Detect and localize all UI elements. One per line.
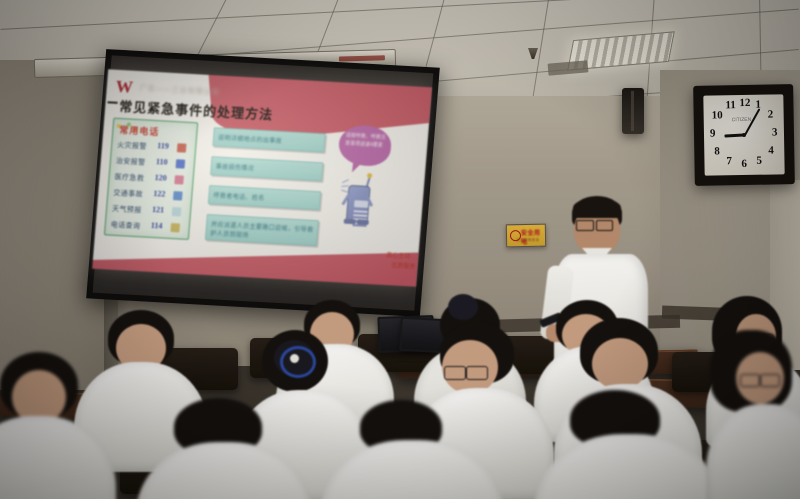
- option-b: 事故损伤情况: [210, 156, 323, 181]
- clock-numeral: 10: [712, 109, 723, 121]
- option-c-text: 呼救者电话、姓名: [213, 190, 265, 202]
- safety-sign-line2: 注意用电安全: [516, 238, 539, 243]
- head: [592, 338, 648, 390]
- clock-numeral: 2: [768, 108, 774, 120]
- phone-number: 121: [152, 205, 165, 215]
- glasses-icon: [760, 374, 780, 387]
- slide-signature-1: 真心主动: [386, 250, 411, 260]
- speech-bubble-text: 请按呼救、呼救注意事项适速4要素: [345, 132, 386, 150]
- wall-clock: 12 1 2 3 4 5 6 7 8 9 10 11 CITIZEN: [693, 84, 795, 186]
- fire-icon: [177, 143, 187, 152]
- speech-bubble: 请按呼救、呼救注意事项适速4要素: [337, 124, 392, 167]
- option-d-text: 并应派遣人员主要路口迎候，引导救护人员到现场: [210, 219, 317, 243]
- common-phone-numbers-box: 常用电话 火灾报警 119 治安报警 110 医疗急救 120 交通事故 122: [104, 118, 198, 240]
- phone-label: 天气预报: [112, 204, 142, 216]
- phone-label: 医疗急救: [114, 172, 144, 184]
- phone-row: 天气预报 121: [112, 203, 187, 219]
- cartoon-telephone-robot-icon: [342, 175, 377, 238]
- glasses-icon: [740, 374, 760, 387]
- phone-number: 110: [156, 157, 168, 167]
- clock-numeral: 5: [756, 155, 762, 167]
- clock-numeral: 9: [710, 127, 716, 139]
- ambulance-icon: [174, 175, 184, 184]
- phone-label: 电话查询: [110, 220, 140, 232]
- clock-face: 12 1 2 3 4 5 6 7 8 9 10 11 CITIZEN: [703, 94, 784, 175]
- blue-hair-clip-icon: [280, 346, 316, 378]
- presenter-glasses-icon: [576, 220, 594, 231]
- company-logo-icon: W: [115, 77, 132, 98]
- phone-row: 治安报警 110: [115, 155, 190, 171]
- clock-numeral: 4: [768, 144, 774, 156]
- presenter-glasses-icon: [596, 220, 613, 231]
- phone-label: 治安报警: [116, 156, 146, 168]
- option-b-text: 事故损伤情况: [215, 161, 254, 172]
- clock-numeral: 6: [741, 158, 747, 170]
- wall-speaker: [622, 88, 644, 134]
- traffic-icon: [173, 191, 183, 200]
- phone-row: 交通事故 122: [113, 187, 188, 203]
- glasses-icon: [466, 366, 488, 380]
- option-d: 并应派遣人员主要路口迎候，引导救护人员到现场: [205, 214, 319, 246]
- option-c: 呼救者电话、姓名: [208, 185, 321, 210]
- clock-numeral: 11: [725, 99, 736, 111]
- phone-number: 114: [150, 221, 162, 231]
- meeting-room-photo: W 广东——工业有限公司 常见紧急事件的处理方法 常用电话 火灾报警 119 治…: [0, 0, 800, 499]
- phone-number: 122: [153, 189, 166, 199]
- clock-numeral: 8: [714, 145, 720, 157]
- clock-brand-label: CITIZEN: [732, 117, 752, 123]
- hair-clip-bead: [290, 354, 299, 363]
- company-name-text: 广东——工业有限公司: [139, 83, 220, 97]
- slide-signature-2: 优质服务: [391, 260, 416, 270]
- phone-number: 119: [157, 141, 169, 151]
- clock-numeral: 12: [739, 97, 750, 109]
- phone-label: 交通事故: [113, 188, 143, 200]
- phone-box-heading: 常用电话: [119, 123, 160, 138]
- directory-icon: [170, 223, 180, 232]
- police-icon: [176, 159, 186, 168]
- clock-center-pin: [742, 133, 746, 137]
- phone-number: 120: [154, 173, 167, 183]
- option-a-text: 说明详细地点的出事故: [218, 133, 283, 146]
- clock-numeral: 7: [726, 155, 732, 167]
- hair-bun-knot: [448, 294, 478, 320]
- projected-slide: W 广东——工业有限公司 常见紧急事件的处理方法 常用电话 火灾报警 119 治…: [92, 69, 432, 286]
- title-dash: [108, 101, 118, 103]
- presenter-hair-top: [573, 198, 621, 218]
- phone-row: 火灾报警 119: [117, 139, 192, 155]
- housing-brand-label: [339, 55, 385, 61]
- weather-icon: [172, 207, 182, 216]
- clock-numeral: 3: [772, 126, 778, 138]
- phone-row: 医疗急救 120: [114, 171, 189, 187]
- glasses-icon: [444, 366, 466, 380]
- phone-label: 火灾报警: [117, 140, 147, 152]
- phone-row: 电话查询 114: [110, 219, 185, 235]
